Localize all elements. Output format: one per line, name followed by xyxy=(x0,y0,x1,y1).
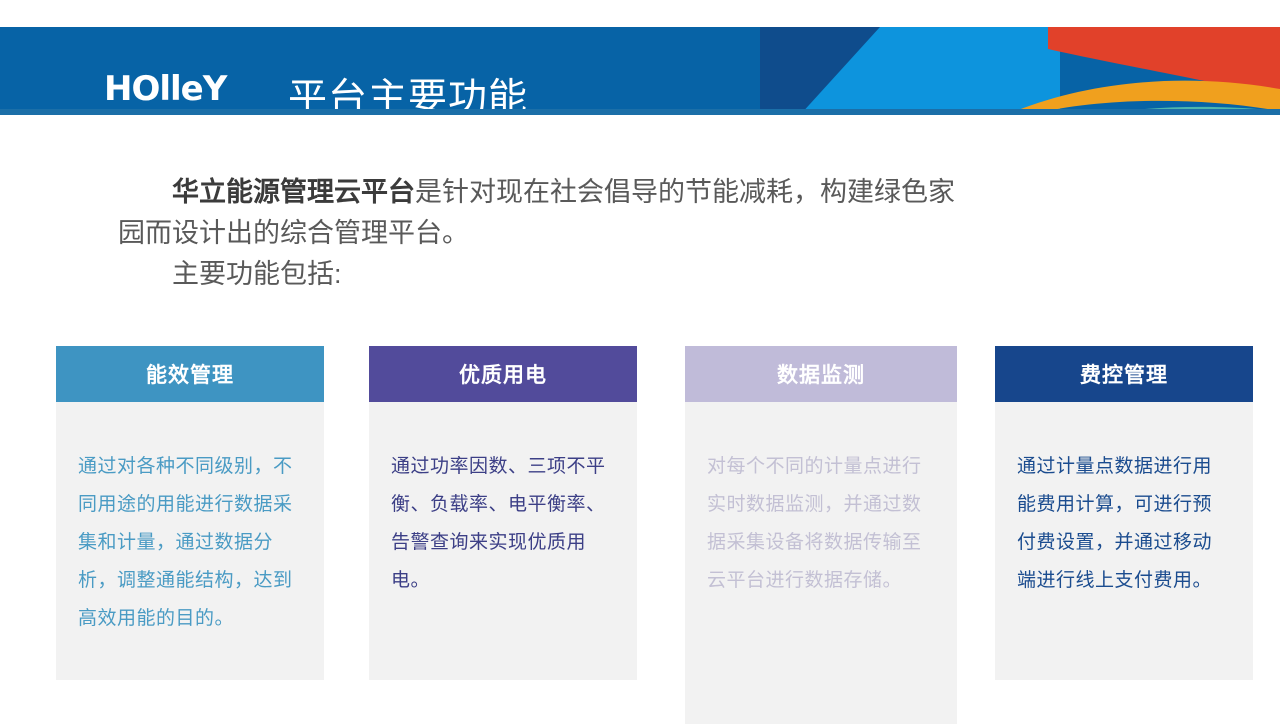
card-body-text-0: 通过对各种不同级别，不同用途的用能进行数据采集和计量，通过数据分析，调整通能结构… xyxy=(78,448,302,638)
logo-wordmark: HOlleY xyxy=(104,72,264,106)
feature-card-quality-power[interactable]: 优质用电 通过功率因数、三项不平衡、负载率、电平衡率、告警查询来实现优质用电。 xyxy=(369,346,637,680)
intro-text: 华立能源管理云平台是针对现在社会倡导的节能减耗，构建绿色家 园而设计出的综合管理… xyxy=(118,172,1128,295)
header-band: HOlleY TECH 华立科技 平台主要功能 xyxy=(0,27,1280,115)
card-header-1: 优质用电 xyxy=(369,346,637,402)
decorative-ribbon xyxy=(760,27,1280,115)
card-body-3: 通过计量点数据进行用能费用计算，可进行预付费设置，并通过移动端进行线上支付费用。 xyxy=(995,402,1253,680)
intro-line-3: 主要功能包括: xyxy=(118,254,1128,295)
header-bottom-accent xyxy=(0,109,1280,115)
card-body-1: 通过功率因数、三项不平衡、负载率、电平衡率、告警查询来实现优质用电。 xyxy=(369,402,637,680)
intro-line-1-rest: 是针对现在社会倡导的节能减耗，构建绿色家 xyxy=(415,177,955,207)
card-body-2: 对每个不同的计量点进行实时数据监测，并通过数据采集设备将数据传输至云平台进行数据… xyxy=(685,402,957,724)
card-header-0: 能效管理 xyxy=(56,346,324,402)
intro-emphasis: 华立能源管理云平台 xyxy=(172,177,415,207)
card-body-0: 通过对各种不同级别，不同用途的用能进行数据采集和计量，通过数据分析，调整通能结构… xyxy=(56,402,324,680)
card-body-text-3: 通过计量点数据进行用能费用计算，可进行预付费设置，并通过移动端进行线上支付费用。 xyxy=(1017,448,1231,600)
card-body-text-2: 对每个不同的计量点进行实时数据监测，并通过数据采集设备将数据传输至云平台进行数据… xyxy=(707,448,935,600)
card-body-text-1: 通过功率因数、三项不平衡、负载率、电平衡率、告警查询来实现优质用电。 xyxy=(391,448,615,600)
feature-card-energy-efficiency[interactable]: 能效管理 通过对各种不同级别，不同用途的用能进行数据采集和计量，通过数据分析，调… xyxy=(56,346,324,680)
intro-line-3-text: 主要功能包括: xyxy=(172,259,342,289)
card-header-3: 费控管理 xyxy=(995,346,1253,402)
feature-card-data-monitoring[interactable]: 数据监测 对每个不同的计量点进行实时数据监测，并通过数据采集设备将数据传输至云平… xyxy=(685,346,957,724)
feature-card-fee-control[interactable]: 费控管理 通过计量点数据进行用能费用计算，可进行预付费设置，并通过移动端进行线上… xyxy=(995,346,1253,680)
intro-line-1: 华立能源管理云平台是针对现在社会倡导的节能减耗，构建绿色家 xyxy=(118,172,1128,213)
intro-line-2: 园而设计出的综合管理平台。 xyxy=(118,213,1128,254)
card-header-2: 数据监测 xyxy=(685,346,957,402)
feature-cards: 能效管理 通过对各种不同级别，不同用途的用能进行数据采集和计量，通过数据分析，调… xyxy=(0,346,1280,686)
